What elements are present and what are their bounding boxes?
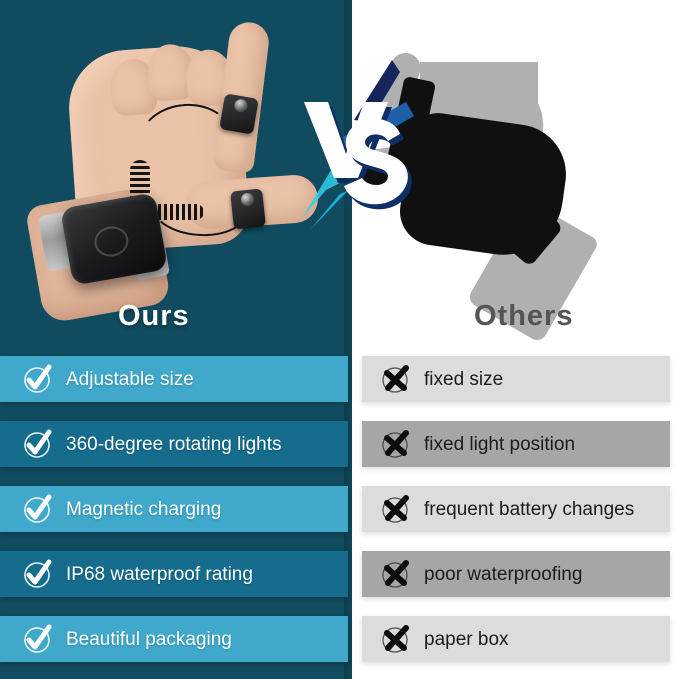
ring-lens-icon <box>240 192 254 206</box>
ours-feature-row[interactable]: Beautiful packaging <box>0 616 348 662</box>
comparison-row: IP68 waterproof rating poor waterproofin… <box>0 551 679 597</box>
check-circle-icon <box>22 494 52 524</box>
hero-section: Ours Others <box>0 0 679 348</box>
x-circle-icon <box>380 624 410 654</box>
others-feature-row[interactable]: frequent battery changes <box>362 486 670 532</box>
finger-ring-module-lower <box>230 188 266 229</box>
others-feature-row[interactable]: paper box <box>362 616 670 662</box>
others-feature-label: paper box <box>424 630 509 649</box>
ours-feature-row[interactable]: Adjustable size <box>0 356 348 402</box>
ours-feature-label: Beautiful packaging <box>66 630 232 649</box>
check-circle-icon <box>22 559 52 589</box>
others-feature-label: poor waterproofing <box>424 565 582 584</box>
ours-feature-label: Adjustable size <box>66 370 194 389</box>
check-circle-icon <box>22 429 52 459</box>
others-feature-row[interactable]: poor waterproofing <box>362 551 670 597</box>
comparison-row: Adjustable size fixed size <box>0 356 679 402</box>
others-feature-label: fixed size <box>424 370 503 389</box>
others-feature-label: fixed light position <box>424 435 575 454</box>
others-title: Others <box>474 302 573 331</box>
x-circle-icon <box>380 364 410 394</box>
others-feature-label: frequent battery changes <box>424 500 634 519</box>
comparison-row: Beautiful packaging paper box <box>0 616 679 662</box>
vs-badge <box>296 58 424 234</box>
x-circle-icon <box>380 429 410 459</box>
ours-title: Ours <box>118 302 190 331</box>
ours-feature-label: IP68 waterproof rating <box>66 565 253 584</box>
ring-lens-icon <box>233 98 248 113</box>
finger-ring-module-upper <box>219 93 259 134</box>
wrist-scanner-device <box>60 192 168 285</box>
others-feature-row[interactable]: fixed light position <box>362 421 670 467</box>
device-dial-icon <box>92 224 131 259</box>
ours-feature-label: 360-degree rotating lights <box>66 435 281 454</box>
others-feature-row[interactable]: fixed size <box>362 356 670 402</box>
comparison-row: 360-degree rotating lights fixed light p… <box>0 421 679 467</box>
x-circle-icon <box>380 559 410 589</box>
ours-feature-label: Magnetic charging <box>66 500 221 519</box>
check-circle-icon <box>22 624 52 654</box>
ours-feature-row[interactable]: IP68 waterproof rating <box>0 551 348 597</box>
comparison-rows: Adjustable size fixed size 360-degree ro… <box>0 348 679 679</box>
x-circle-icon <box>380 494 410 524</box>
comparison-row: Magnetic charging frequent battery chang… <box>0 486 679 532</box>
ours-feature-row[interactable]: 360-degree rotating lights <box>0 421 348 467</box>
comparison-infographic: Ours Others Adjustable size fixed size <box>0 0 679 679</box>
ours-feature-row[interactable]: Magnetic charging <box>0 486 348 532</box>
check-circle-icon <box>22 364 52 394</box>
